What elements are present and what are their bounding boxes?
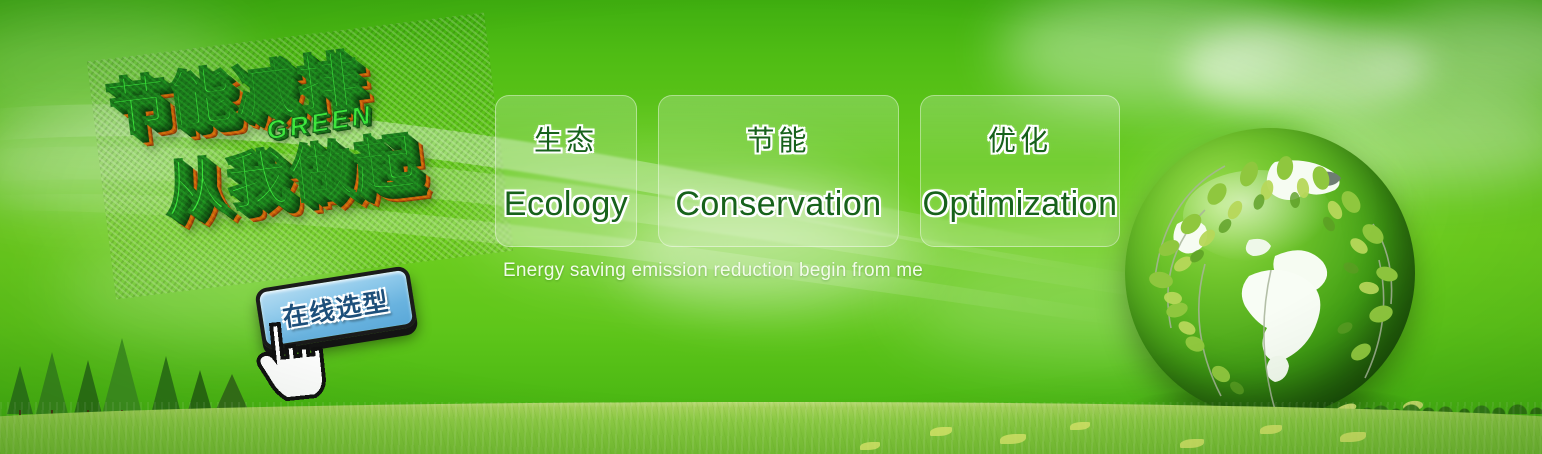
eco-banner: 节能减排 从我做起 GREEN 在线选型 生态 Ecology 节能 Conse… xyxy=(0,0,1542,454)
feature-card-list: 生态 Ecology 节能 Conservation 优化 Optimizati… xyxy=(495,95,1120,247)
card-en-label: Conservation xyxy=(675,185,881,224)
banner-subtitle: Energy saving emission reduction begin f… xyxy=(503,260,923,282)
feature-card-ecology[interactable]: 生态 Ecology xyxy=(495,95,637,247)
card-en-label: Ecology xyxy=(504,185,628,224)
feature-card-optimization[interactable]: 优化 Optimization xyxy=(920,95,1120,247)
headline-3d-artwork: 节能减排 从我做起 GREEN xyxy=(87,13,513,300)
globe-leaf-canopy xyxy=(1125,128,1415,418)
globe-sphere xyxy=(1125,128,1415,418)
card-cn-label: 节能 xyxy=(746,119,810,159)
card-en-label: Optimization xyxy=(923,185,1118,224)
grass-texture xyxy=(0,402,1542,454)
feature-card-conservation[interactable]: 节能 Conservation xyxy=(658,95,899,247)
hand-pointer-icon xyxy=(242,314,335,408)
card-cn-label: 优化 xyxy=(988,119,1052,159)
card-cn-label: 生态 xyxy=(534,119,598,159)
